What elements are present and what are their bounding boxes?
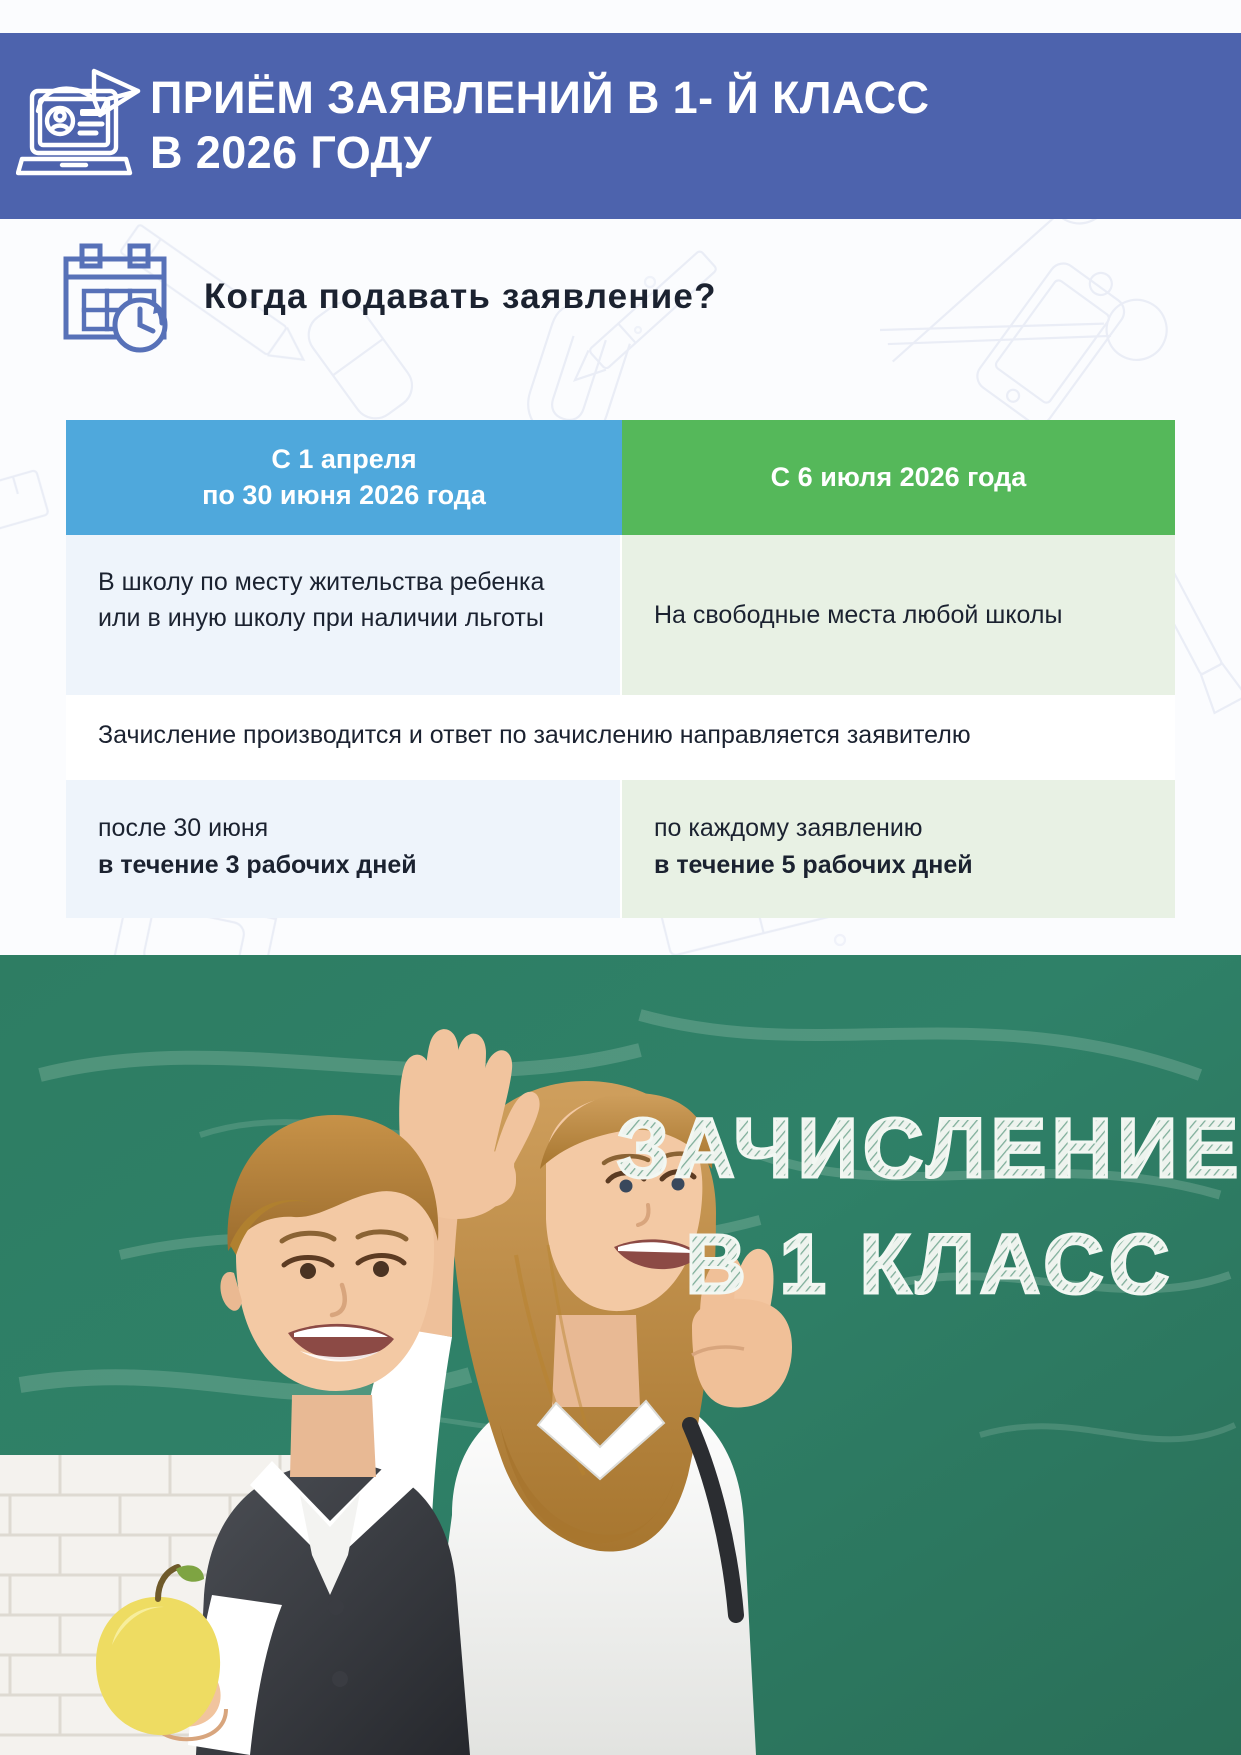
table-cell-where-2: На свободные места любой школы [622,535,1175,695]
header-1-line-1: С 1 апреля [271,442,416,478]
table-footer-row: после 30 июня в течение 3 рабочих дней п… [66,780,1175,918]
term-1-light: после 30 июня [98,810,590,847]
calendar-clock-icon [60,241,178,353]
poster-header: ПРИЁМ ЗАЯВЛЕНИЙ В 1- Й КЛАСС В 2026 ГОДУ [0,33,1241,219]
table-cell-where-1: В школу по месту жительства ребенка или … [66,535,622,695]
svg-text:ЗАЧИСЛЕНИЕ: ЗАЧИСЛЕНИЕ [617,1101,1241,1195]
top-white-strip [0,0,1241,33]
table-merged-row: Зачисление производится и ответ по зачис… [66,695,1175,779]
table-header-cell-period-1: С 1 апреля по 30 июня 2026 года [66,420,622,535]
section-heading-row: Когда подавать заявление? [60,241,717,353]
infographic-poster: ПРИЁМ ЗАЯВЛЕНИЙ В 1- Й КЛАСС В 2026 ГОДУ [0,0,1241,1755]
term-2-light: по каждому заявлению [654,810,1145,847]
deadlines-table: С 1 апреля по 30 июня 2026 года С 6 июля… [66,420,1175,918]
content-area: Когда подавать заявление? С 1 апреля по … [0,219,1241,955]
term-2-strong: в течение 5 рабочих дней [654,847,1145,884]
svg-text:В 1 КЛАСС: В 1 КЛАСС [685,1217,1174,1311]
table-cell-term-2: по каждому заявлению в течение 5 рабочих… [622,780,1175,918]
title-line-2: В 2026 ГОДУ [150,126,929,181]
title-line-1: ПРИЁМ ЗАЯВЛЕНИЙ В 1- Й КЛАСС [150,72,929,123]
laptop-id-send-icon [0,67,150,185]
page-title: ПРИЁМ ЗАЯВЛЕНИЙ В 1- Й КЛАСС В 2026 ГОДУ [150,71,959,181]
header-1-line-2: по 30 июня 2026 года [202,478,486,514]
term-1-strong: в течение 3 рабочих дней [98,847,590,884]
classroom-photo: ЗАЧИСЛЕНИЕ В 1 КЛАСС [0,955,1241,1755]
table-body-row: В школу по месту жительства ребенка или … [66,535,1175,695]
section-title: Когда подавать заявление? [204,277,717,317]
table-cell-term-1: после 30 июня в течение 3 рабочих дней [66,780,622,918]
table-header-row: С 1 апреля по 30 июня 2026 года С 6 июля… [66,420,1175,535]
table-header-cell-period-2: С 6 июля 2026 года [622,420,1175,535]
table-cell-enrollment-note: Зачисление производится и ответ по зачис… [66,695,1175,779]
header-2-line-1: С 6 июля 2026 года [771,460,1027,496]
